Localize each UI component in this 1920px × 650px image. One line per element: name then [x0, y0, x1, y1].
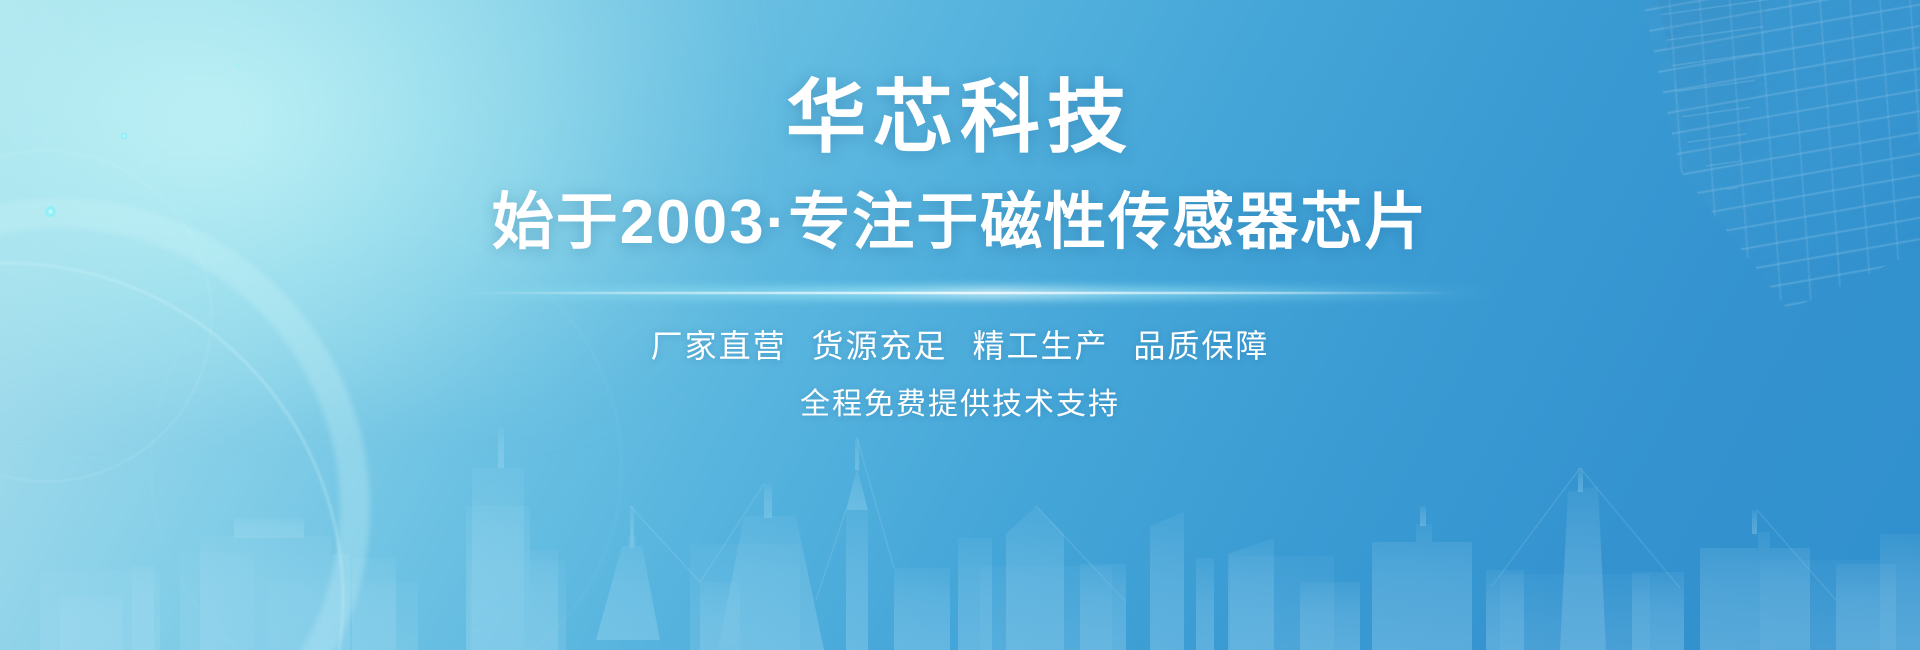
support-statement: 全程免费提供技术支持 [800, 390, 1120, 420]
feature-item: 厂家直营 [651, 328, 787, 364]
company-subtitle: 始于2003·专注于磁性传感器芯片 [492, 192, 1429, 254]
feature-item: 精工生产 [972, 328, 1108, 364]
company-title: 华芯科技 [786, 78, 1134, 158]
glow-divider [420, 282, 1500, 304]
feature-item: 货源充足 [812, 328, 948, 364]
glow-beam-core [463, 292, 1457, 294]
feature-item: 品质保障 [1133, 328, 1269, 364]
feature-list: 厂家直营 货源充足 精工生产 品质保障 [644, 330, 1277, 362]
hero-banner: 华芯科技 始于2003·专注于磁性传感器芯片 厂家直营 货源充足 精工生产 品质… [0, 0, 1920, 650]
banner-content: 华芯科技 始于2003·专注于磁性传感器芯片 厂家直营 货源充足 精工生产 品质… [0, 0, 1920, 650]
